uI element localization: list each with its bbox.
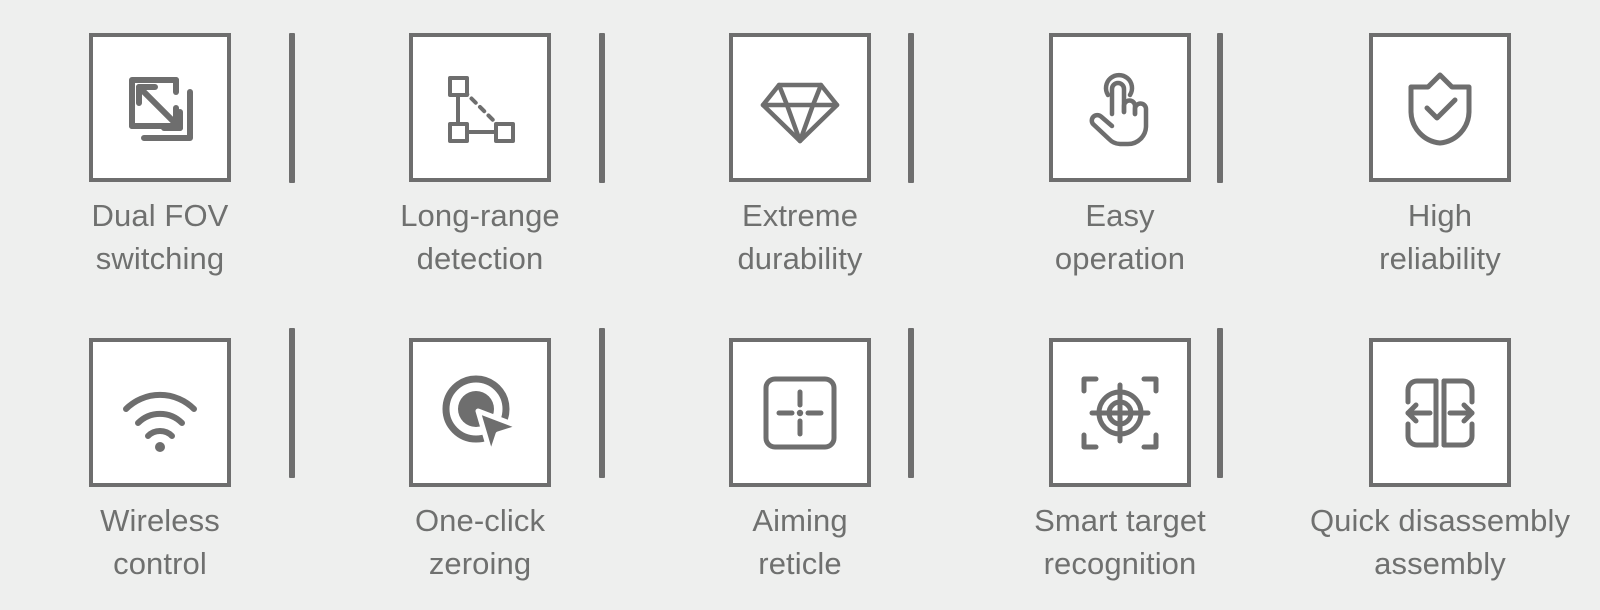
feature-cell-quick-disassembly-assembly[interactable]: Quick disassembly assembly [1280, 305, 1600, 610]
feature-label: Aiming reticle [752, 499, 847, 585]
resize-expand-icon [114, 62, 206, 154]
icon-tile [1049, 33, 1191, 182]
feature-cell-long-range-detection[interactable]: Long-range detection [320, 0, 640, 305]
divider-row2-1 [289, 328, 295, 478]
feature-cell-smart-target-recognition[interactable]: Smart target recognition [960, 305, 1280, 610]
shield-check-icon [1394, 62, 1486, 154]
feature-label: High reliability [1379, 194, 1501, 280]
icon-tile [1049, 338, 1191, 487]
split-panels-arrows-icon [1394, 367, 1486, 459]
feature-cell-one-click-zeroing[interactable]: One-click zeroing [320, 305, 640, 610]
feature-cell-dual-fov-switching[interactable]: Dual FOV switching [0, 0, 320, 305]
target-cursor-icon [434, 367, 526, 459]
triangle-measure-icon [434, 62, 526, 154]
feature-cell-easy-operation[interactable]: Easy operation [960, 0, 1280, 305]
divider-row1-2 [599, 33, 605, 183]
icon-tile [729, 33, 871, 182]
feature-label: One-click zeroing [415, 499, 545, 585]
divider-row1-3 [908, 33, 914, 183]
feature-grid: Dual FOV switching Long-range detection [0, 0, 1600, 610]
divider-row1-4 [1217, 33, 1223, 183]
icon-tile [1369, 338, 1511, 487]
feature-label: Dual FOV switching [92, 194, 229, 280]
icon-tile [1369, 33, 1511, 182]
feature-label: Long-range detection [400, 194, 560, 280]
feature-label: Quick disassembly assembly [1310, 499, 1570, 585]
feature-label: Extreme durability [737, 194, 862, 280]
feature-label: Smart target recognition [1034, 499, 1206, 585]
icon-tile [729, 338, 871, 487]
feature-cell-wireless-control[interactable]: Wireless control [0, 305, 320, 610]
divider-row2-2 [599, 328, 605, 478]
feature-label: Wireless control [100, 499, 220, 585]
divider-row2-4 [1217, 328, 1223, 478]
icon-tile [89, 33, 231, 182]
icon-tile [89, 338, 231, 487]
divider-row2-3 [908, 328, 914, 478]
wifi-icon [114, 367, 206, 459]
divider-row1-1 [289, 33, 295, 183]
crosshair-frame-icon [754, 367, 846, 459]
feature-label: Easy operation [1055, 194, 1185, 280]
icon-tile [409, 33, 551, 182]
diamond-icon [754, 62, 846, 154]
target-brackets-icon [1074, 367, 1166, 459]
tap-hand-icon [1074, 62, 1166, 154]
icon-tile [409, 338, 551, 487]
feature-cell-high-reliability[interactable]: High reliability [1280, 0, 1600, 305]
feature-grid-board: Dual FOV switching Long-range detection [0, 0, 1600, 610]
